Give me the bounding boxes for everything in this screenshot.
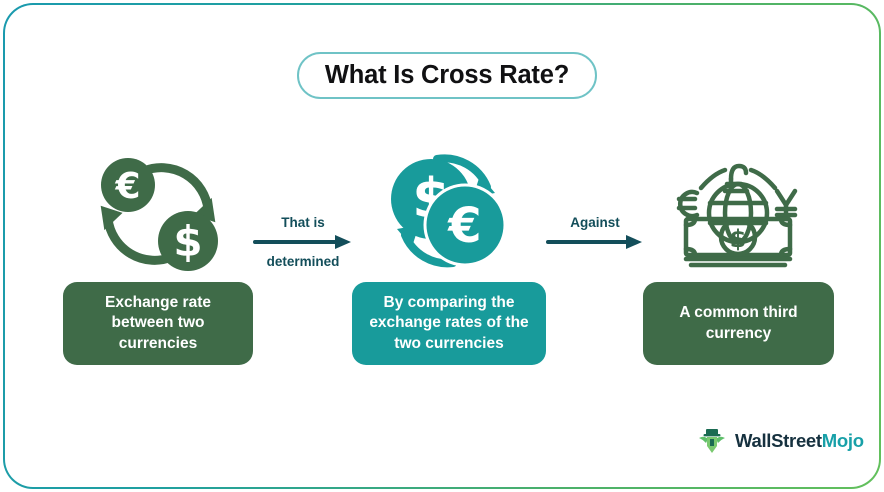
logo-text-accent: Mojo bbox=[822, 430, 864, 451]
connector-1: That is determined bbox=[253, 215, 353, 287]
svg-text:$: $ bbox=[730, 225, 747, 253]
connector-1-label-below: determined bbox=[253, 254, 353, 269]
step-3-box: A common third currency bbox=[643, 282, 834, 365]
wallstreetmojo-logo[interactable]: WallStreetMojo bbox=[697, 426, 864, 456]
step-1-label: Exchange rate between two currencies bbox=[73, 293, 243, 353]
step-2-box: By comparing the exchange rates of the t… bbox=[352, 282, 546, 365]
infographic-card: What Is Cross Rate? € $ Exchange rate be… bbox=[3, 3, 881, 489]
currency-exchange-euro-dollar-icon: € $ bbox=[90, 153, 226, 275]
connector-2: Against bbox=[546, 215, 644, 267]
logo-text: WallStreetMojo bbox=[735, 430, 864, 452]
connector-1-label-above: That is bbox=[253, 215, 353, 230]
dollar-euro-coins-compare-icon: $ € bbox=[379, 149, 513, 273]
step-2-label: By comparing the exchange rates of the t… bbox=[362, 293, 536, 353]
logo-text-primary: WallStreet bbox=[735, 430, 822, 451]
step-3-label: A common third currency bbox=[653, 303, 824, 343]
svg-text:$: $ bbox=[173, 217, 202, 266]
step-1-box: Exchange rate between two currencies bbox=[63, 282, 253, 365]
global-currency-banknote-icon: $ bbox=[665, 155, 811, 271]
page-title: What Is Cross Rate? bbox=[325, 61, 569, 90]
arrow-right-icon bbox=[546, 234, 644, 250]
wallstreetmojo-bull-mascot-icon bbox=[697, 426, 727, 456]
svg-text:€: € bbox=[114, 166, 140, 207]
svg-text:€: € bbox=[447, 198, 481, 254]
arrow-right-icon bbox=[253, 234, 353, 250]
connector-2-label-above: Against bbox=[546, 215, 644, 230]
page-title-pill: What Is Cross Rate? bbox=[297, 52, 597, 99]
